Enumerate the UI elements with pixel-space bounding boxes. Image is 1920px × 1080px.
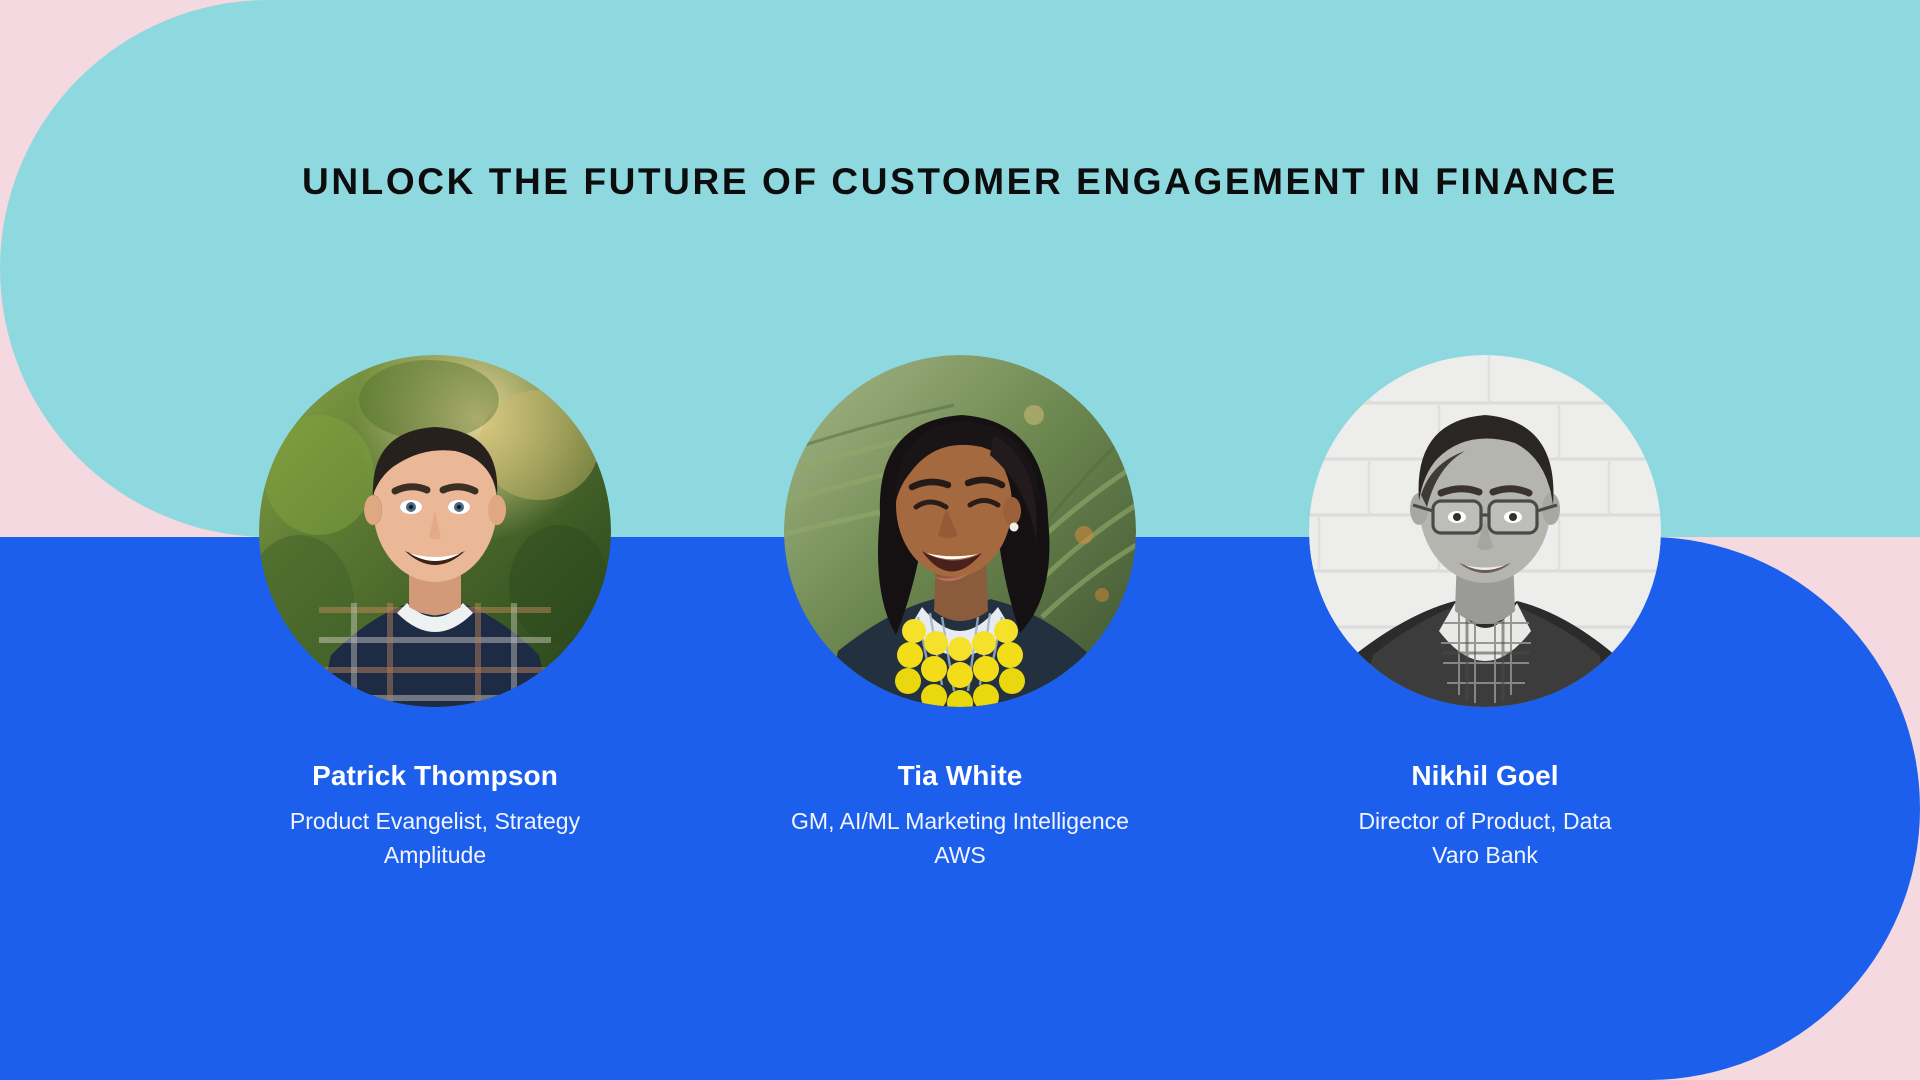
speaker-photo-patrick-thompson [259, 355, 611, 707]
speaker-role: Product Evangelist, Strategy [290, 807, 580, 836]
speaker-org: Amplitude [384, 841, 486, 870]
speaker-role: Director of Product, Data [1358, 807, 1611, 836]
speaker-org: Varo Bank [1432, 841, 1538, 870]
speaker-photo-nikhil-goel [1309, 355, 1661, 707]
title-container: UNLOCK THE FUTURE OF CUSTOMER ENGAGEMENT… [0, 160, 1920, 204]
speaker-card: Nikhil Goel Director of Product, Data Va… [1305, 355, 1665, 870]
speaker-name: Patrick Thompson [312, 759, 558, 793]
page-title: UNLOCK THE FUTURE OF CUSTOMER ENGAGEMENT… [302, 160, 1618, 204]
speaker-name: Nikhil Goel [1411, 759, 1558, 793]
speaker-photo-tia-white [784, 355, 1136, 707]
avatar [259, 355, 611, 707]
speaker-name: Tia White [898, 759, 1023, 793]
speaker-card: Patrick Thompson Product Evangelist, Str… [255, 355, 615, 870]
speakers-row: Patrick Thompson Product Evangelist, Str… [0, 355, 1920, 870]
speaker-card: Tia White GM, AI/ML Marketing Intelligen… [780, 355, 1140, 870]
speaker-org: AWS [934, 841, 986, 870]
avatar [1309, 355, 1661, 707]
speaker-role: GM, AI/ML Marketing Intelligence [791, 807, 1129, 836]
avatar [784, 355, 1136, 707]
slide-canvas: UNLOCK THE FUTURE OF CUSTOMER ENGAGEMENT… [0, 0, 1920, 1080]
